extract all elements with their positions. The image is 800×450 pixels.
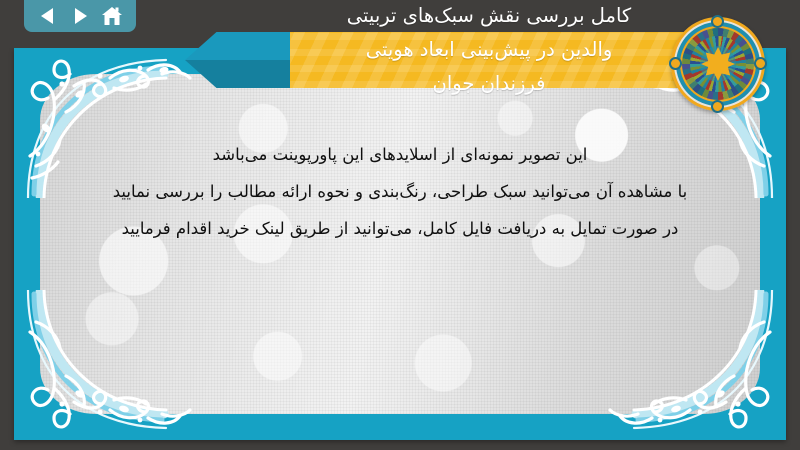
banner-chevron-pattern [270,32,710,88]
slide-canvas: این تصویر نمونه‌ای از اسلایدهای این پاور… [0,0,800,450]
home-icon[interactable] [101,5,123,27]
mandala-medallion-icon [671,17,765,111]
triangle-right-icon[interactable] [69,5,91,27]
slide-content-area [40,74,760,414]
title-banner [270,32,710,88]
slide-frame [14,48,786,440]
triangle-left-icon[interactable] [37,5,59,27]
slide-navigation-bar [24,0,136,32]
